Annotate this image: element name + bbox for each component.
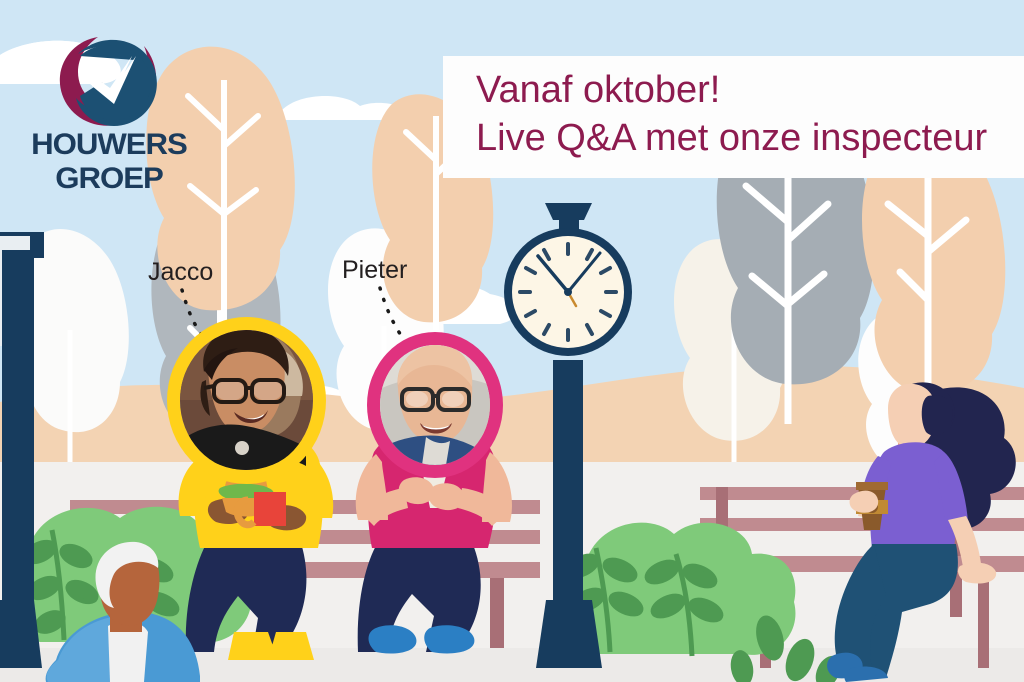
headline-panel: Vanaf oktober! Live Q&A met onze inspect… [443, 56, 1024, 178]
avatar-pieter [380, 345, 490, 465]
promo-banner: HOUWERS GROEP Vanaf oktober! Live Q&A me… [0, 0, 1024, 682]
name-label-jacco: Jacco [148, 258, 213, 287]
avatar-pieter-portrait [380, 345, 490, 465]
headline-line-2: Live Q&A met onze inspecteur [476, 114, 1024, 162]
avatar-jacco-portrait [180, 330, 313, 471]
brand-logo: HOUWERS GROEP [4, 32, 214, 182]
headline-line-1: Vanaf oktober! [476, 66, 1024, 114]
name-label-pieter: Pieter [342, 256, 407, 285]
shoe-right [268, 632, 314, 660]
brand-logo-text: HOUWERS GROEP [0, 128, 218, 196]
circular-checkmark-logo-icon [52, 32, 164, 132]
avatar-jacco [180, 330, 313, 471]
